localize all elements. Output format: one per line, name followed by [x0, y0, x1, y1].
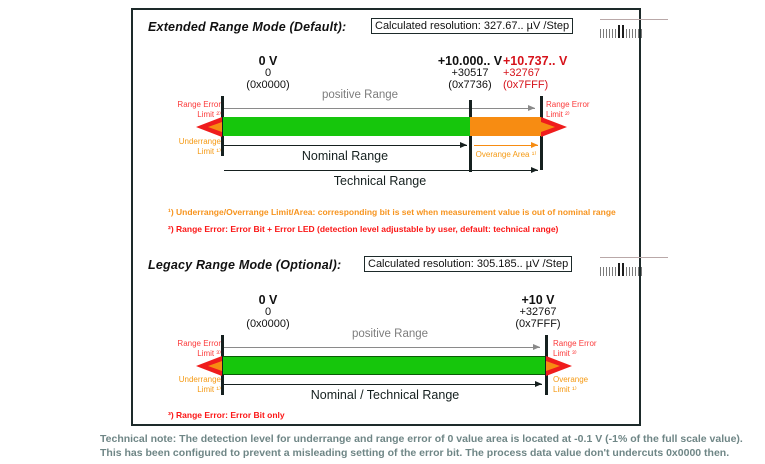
- technical-note: Technical note: The detection level for …: [100, 433, 760, 460]
- legacy-zero-volts: 0 V: [218, 294, 318, 306]
- footnote-two: ²) Range Error: Error Bit + Error LED (d…: [168, 224, 558, 234]
- extended-mode-title: Extended Range Mode (Default):: [148, 20, 346, 34]
- legacy-overrange-caption: Overange Limit ¹⁾: [553, 375, 613, 394]
- extended-left-underrange-arrow: [208, 122, 222, 132]
- extended-zero-volts: 0 V: [218, 55, 318, 67]
- extended-technical-range-arrow: [224, 170, 538, 171]
- legacy-positive-range-arrow: [222, 347, 540, 348]
- legacy-zero-label: 0 V 0 (0x0000): [218, 294, 318, 330]
- extended-nominal-range-label: Nominal Range: [285, 149, 405, 163]
- extended-tech-max-dec: +32767: [503, 67, 603, 79]
- legacy-zero-hex: (0x0000): [218, 318, 318, 330]
- extended-nominal-boundary-bar: [469, 100, 472, 172]
- legacy-mode-title: Legacy Range Mode (Optional):: [148, 258, 341, 272]
- extended-nominal-band: [223, 117, 470, 136]
- legacy-max-hex: (0x7FFF): [488, 318, 588, 330]
- legacy-left-underrange-arrow: [208, 361, 222, 371]
- extended-positive-range-label: positive Range: [300, 89, 420, 101]
- legacy-max-volts: +10 V: [488, 294, 588, 306]
- legacy-resolution-ticks-icon: [600, 260, 642, 276]
- legacy-zero-dec: 0: [218, 306, 318, 318]
- extended-positive-range-arrow: [222, 108, 535, 109]
- extended-overrange-area-arrow: [474, 145, 538, 146]
- extended-overrange-band: [470, 117, 541, 136]
- extended-zero-label: 0 V 0 (0x0000): [218, 55, 318, 91]
- technical-note-line2: This has been configured to prevent a mi…: [100, 447, 760, 461]
- extended-tech-max-label: +10.737.. V +32767 (0x7FFF): [503, 55, 603, 91]
- legacy-positive-range-label: positive Range: [330, 328, 450, 340]
- footnote-one: ¹) Underrange/Overrange Limit/Area: corr…: [168, 207, 616, 217]
- legacy-max-label: +10 V +32767 (0x7FFF): [488, 294, 588, 330]
- legacy-underrange-caption: Underrange Limit ¹⁾: [170, 375, 221, 394]
- extended-resolution-ticks-icon: [600, 22, 642, 38]
- technical-note-line1: Technical note: The detection level for …: [100, 433, 760, 447]
- extended-overrange-area-label: Overange Area ¹⁾: [468, 150, 544, 159]
- legacy-max-dec: +32767: [488, 306, 588, 318]
- extended-tech-max-volts: +10.737.. V: [503, 55, 603, 67]
- legacy-right-overrange-arrow: [546, 361, 560, 371]
- extended-technical-range-label: Technical Range: [300, 174, 460, 188]
- extended-resolution-box: Calculated resolution: 327.67.. µV /Step: [371, 18, 573, 34]
- diagram-page: Extended Range Mode (Default): Calculate…: [0, 0, 765, 464]
- extended-nominal-range-arrow: [224, 145, 467, 146]
- extended-underrange-caption: Underrange Limit ¹⁾: [170, 137, 221, 156]
- extended-right-overrange-arrow: [541, 122, 555, 132]
- legacy-nominal-band: [223, 356, 545, 375]
- legacy-nominal-technical-range-arrow: [224, 384, 542, 385]
- legacy-nominal-technical-range-label: Nominal / Technical Range: [295, 388, 475, 402]
- legacy-resolution-box: Calculated resolution: 305.185.. µV /Ste…: [364, 256, 572, 272]
- footnote-three: ³) Range Error: Error Bit only: [168, 410, 285, 420]
- extended-zero-dec: 0: [218, 67, 318, 79]
- extended-tech-max-hex: (0x7FFF): [503, 79, 603, 91]
